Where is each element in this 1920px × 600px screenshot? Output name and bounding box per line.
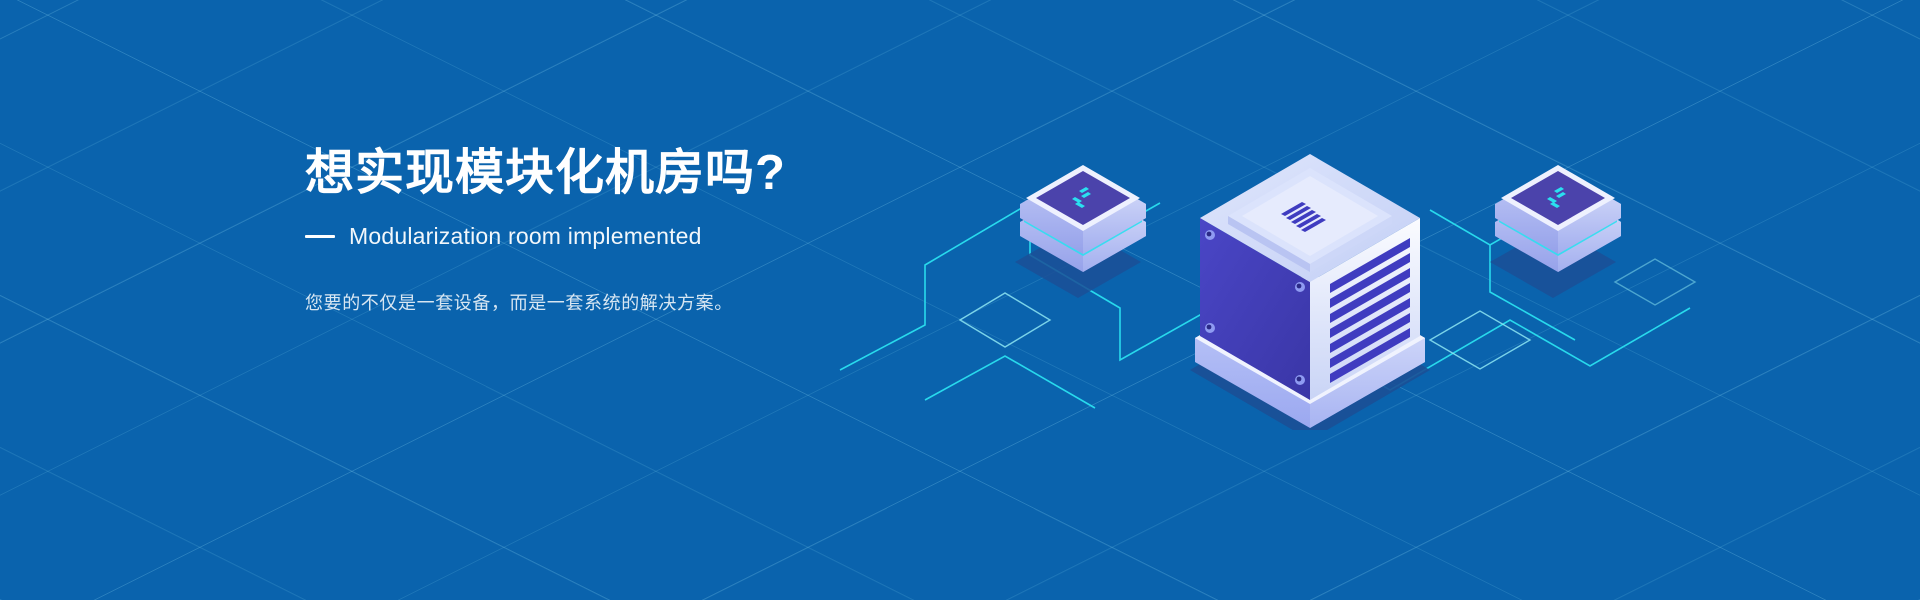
hero-banner: 想实现模块化机房吗? Modularization room implement…: [0, 0, 1920, 600]
isometric-server-room-illustration: [830, 70, 1830, 430]
diamond-outline: [1430, 311, 1530, 369]
accent-dash: [305, 235, 335, 238]
diamond-outline: [1615, 259, 1695, 305]
diamond-outline: [960, 293, 1050, 347]
hero-subtitle: Modularization room implemented: [349, 223, 702, 250]
